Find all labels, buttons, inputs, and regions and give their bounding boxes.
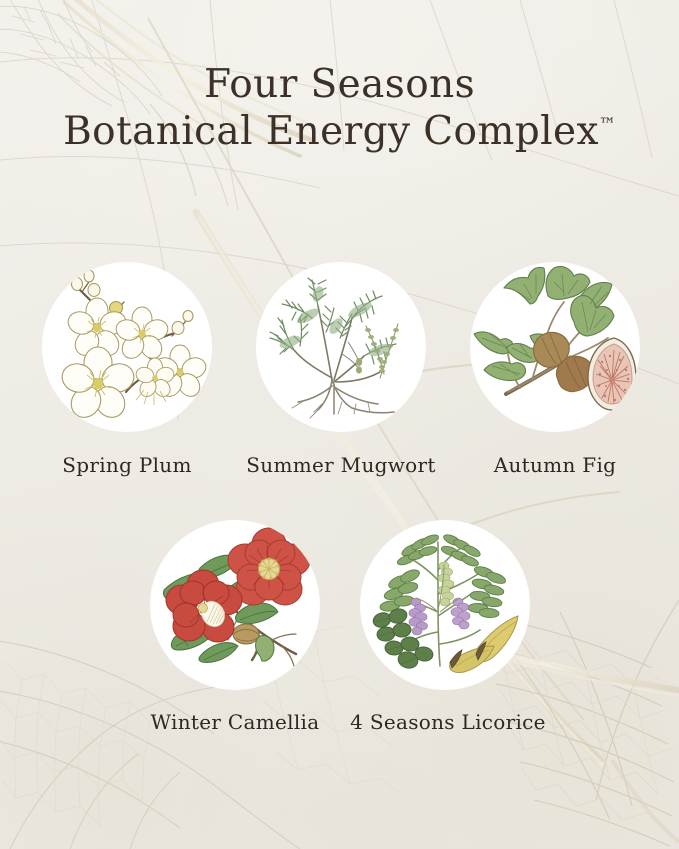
title-line-two-text: Botanical Energy Complex xyxy=(63,109,599,154)
ingredient-circle-winter-camellia[interactable] xyxy=(150,520,320,690)
camellia-flower-illustration xyxy=(150,520,320,690)
ingredient-circle-spring-plum[interactable] xyxy=(42,262,212,432)
label-four-seasons-licorice: 4 Seasons Licorice xyxy=(340,710,556,734)
label-spring-plum: Spring Plum xyxy=(42,453,212,477)
ingredient-circle-autumn-fig[interactable] xyxy=(470,262,640,432)
fig-branch-with-fruit-illustration xyxy=(470,262,640,432)
licorice-plant-illustration xyxy=(360,520,530,690)
label-summer-mugwort: Summer Mugwort xyxy=(243,453,439,477)
poster-canvas: Four Seasons Botanical Energy Complex™ xyxy=(0,0,679,849)
title-line-two: Botanical Energy Complex™ xyxy=(0,109,679,154)
ingredient-circle-four-seasons-licorice[interactable] xyxy=(360,520,530,690)
label-autumn-fig: Autumn Fig xyxy=(470,453,640,477)
label-winter-camellia: Winter Camellia xyxy=(126,710,344,734)
trademark-symbol: ™ xyxy=(599,115,616,135)
poster-title: Four Seasons Botanical Energy Complex™ xyxy=(0,62,679,154)
title-line-one: Four Seasons xyxy=(0,62,679,107)
ingredient-circle-summer-mugwort[interactable] xyxy=(256,262,426,432)
mugwort-plant-illustration xyxy=(256,262,426,432)
plum-blossom-branch-illustration xyxy=(42,262,212,432)
